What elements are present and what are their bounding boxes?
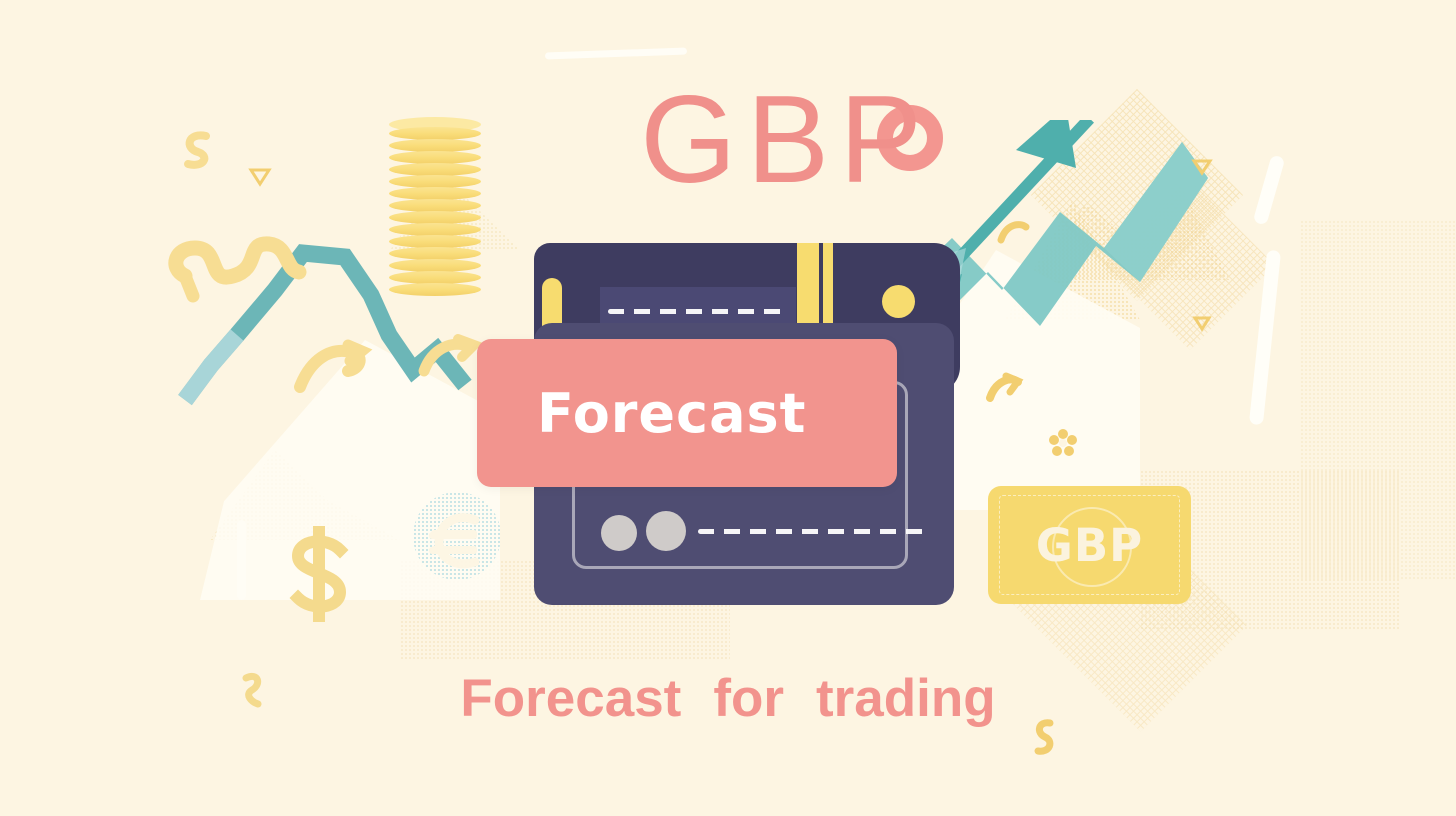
page-title: GBP (596, 78, 976, 202)
caption-word-1: Forecast (460, 669, 681, 728)
coin-stack-icon (389, 117, 481, 302)
caption: Forecastfortrading (0, 668, 1456, 729)
background-grid-diamond-icon (1105, 180, 1275, 350)
illustration-canvas: Forecast GBP GBP Forecastfortrading (0, 0, 1456, 816)
currency-squiggle-icon (418, 335, 480, 379)
white-stroke-icon (545, 48, 687, 60)
triangle-outline-icon (248, 167, 272, 187)
background-dot-pyramid-icon (210, 430, 400, 540)
euro-circle-icon (413, 492, 501, 580)
card-chip-circle (646, 511, 686, 551)
card-number-dashes (608, 309, 790, 314)
background-dot-triangle-icon (390, 170, 520, 250)
caption-word-2: for (713, 669, 784, 728)
currency-squiggle-icon (165, 192, 310, 302)
banknote-label: GBP (988, 486, 1191, 604)
gbp-banknote: GBP (988, 486, 1191, 604)
background-grid-diamond-icon (1031, 89, 1243, 301)
background-dot-mound-icon (1030, 170, 1230, 280)
currency-squiggle-icon (176, 130, 222, 172)
forecast-banner: Forecast (477, 339, 897, 487)
background-dot-band-icon (1300, 220, 1456, 580)
card-yellow-dot (882, 285, 915, 318)
white-stroke-icon (237, 520, 246, 600)
card-number-dashes (698, 529, 924, 534)
caption-word-3: trading (816, 669, 996, 728)
card-chip-circle (601, 515, 637, 551)
forecast-banner-label: Forecast (537, 382, 806, 445)
white-stroke-icon (1249, 250, 1281, 426)
flower-icon (1048, 428, 1078, 458)
dollar-sign-icon (280, 528, 358, 620)
triangle-outline-icon (1192, 315, 1212, 332)
white-stroke-icon (1253, 154, 1286, 225)
currency-squiggle-icon (996, 218, 1032, 248)
triangle-outline-icon (1191, 158, 1213, 176)
currency-squiggle-icon (984, 372, 1024, 406)
currency-squiggle-icon (292, 335, 372, 397)
